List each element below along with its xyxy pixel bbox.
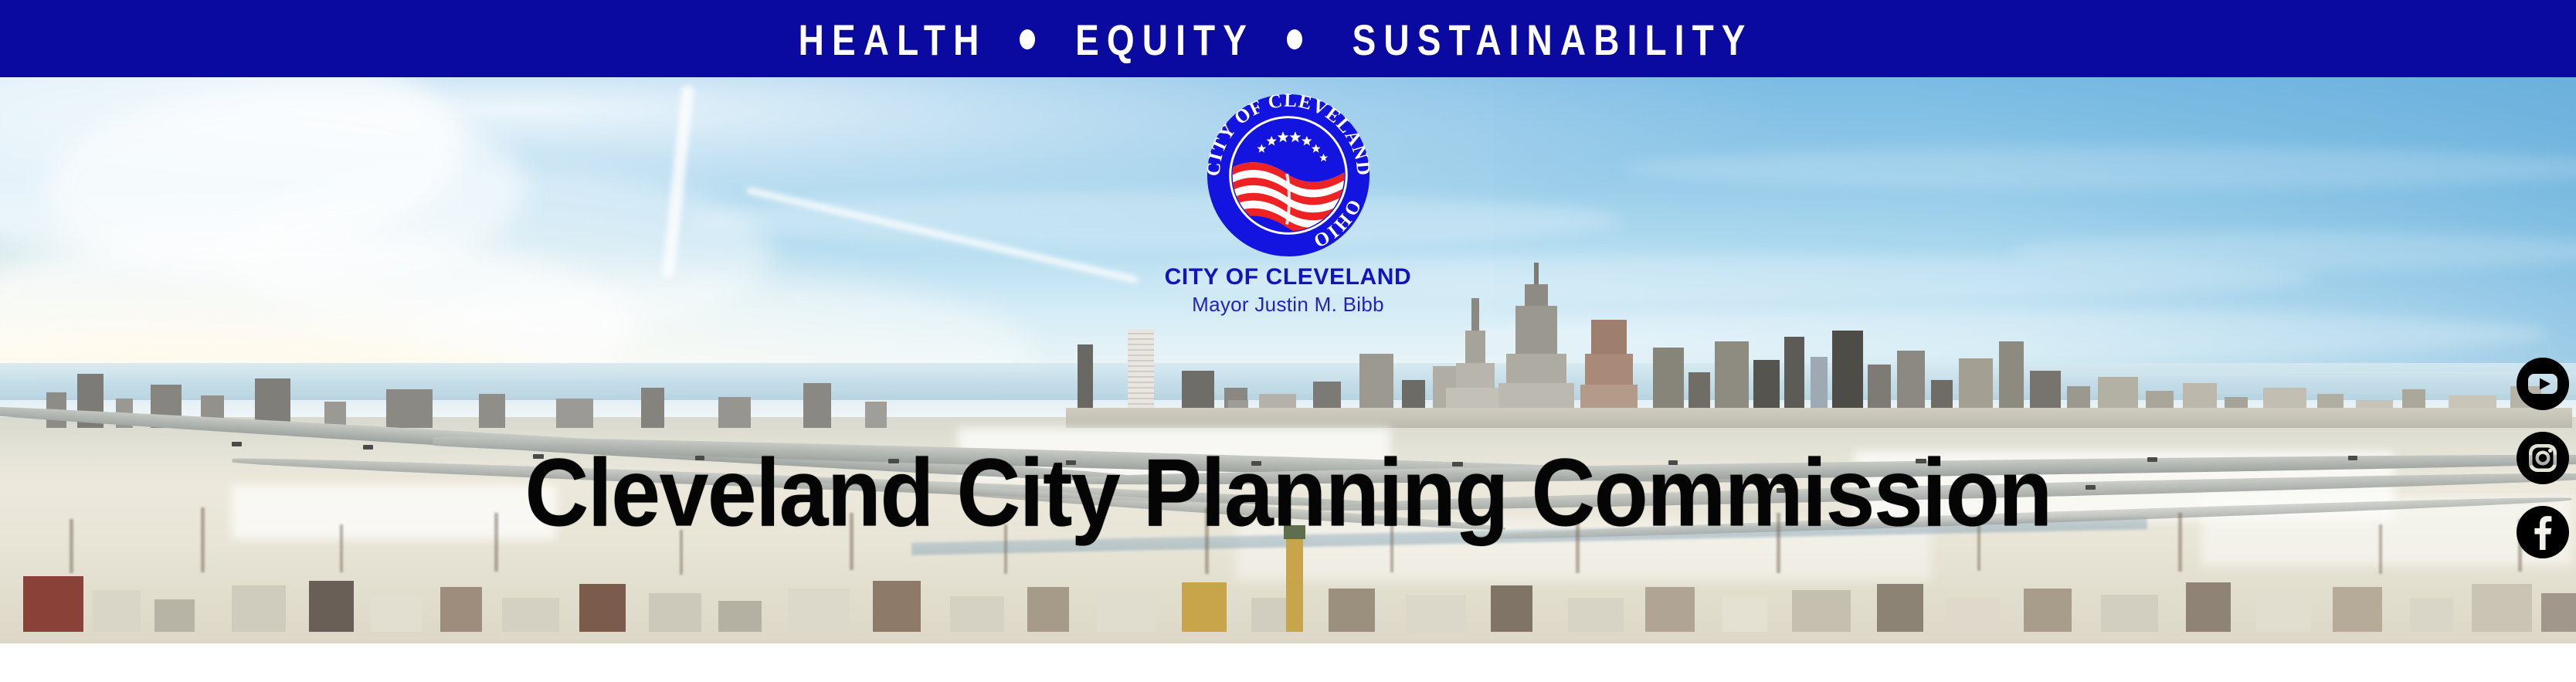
social-links-rail[interactable] xyxy=(2516,357,2570,559)
tagline-word-health: HEALTH xyxy=(798,15,986,61)
tagline-word-equity: EQUITY xyxy=(1075,15,1254,61)
hero-photo: CITY OF CLEVELAND OHIO xyxy=(0,77,2576,643)
bullet-dot-icon-1 xyxy=(1020,29,1035,49)
facebook-icon[interactable] xyxy=(2516,505,2570,559)
bottom-white-strip xyxy=(0,643,2576,682)
instagram-icon[interactable] xyxy=(2516,431,2570,485)
city-logo-lockup: CITY OF CLEVELAND OHIO xyxy=(1111,91,1466,316)
page-root: HEALTH EQUITY SUSTAINABILITY xyxy=(0,0,2576,682)
tagline-banner: HEALTH EQUITY SUSTAINABILITY xyxy=(0,0,2576,77)
youtube-icon[interactable] xyxy=(2516,357,2570,411)
tagline-banner-inner: HEALTH EQUITY SUSTAINABILITY xyxy=(790,19,1770,59)
bullet-dot-icon-2 xyxy=(1287,29,1302,49)
tagline-word-sustainability: SUSTAINABILITY xyxy=(1352,15,1753,61)
city-of-cleveland-seal-icon: CITY OF CLEVELAND OHIO xyxy=(1204,91,1373,260)
mayor-name-label: Mayor Justin M. Bibb xyxy=(1192,293,1384,316)
city-name-label: CITY OF CLEVELAND xyxy=(1165,264,1412,290)
